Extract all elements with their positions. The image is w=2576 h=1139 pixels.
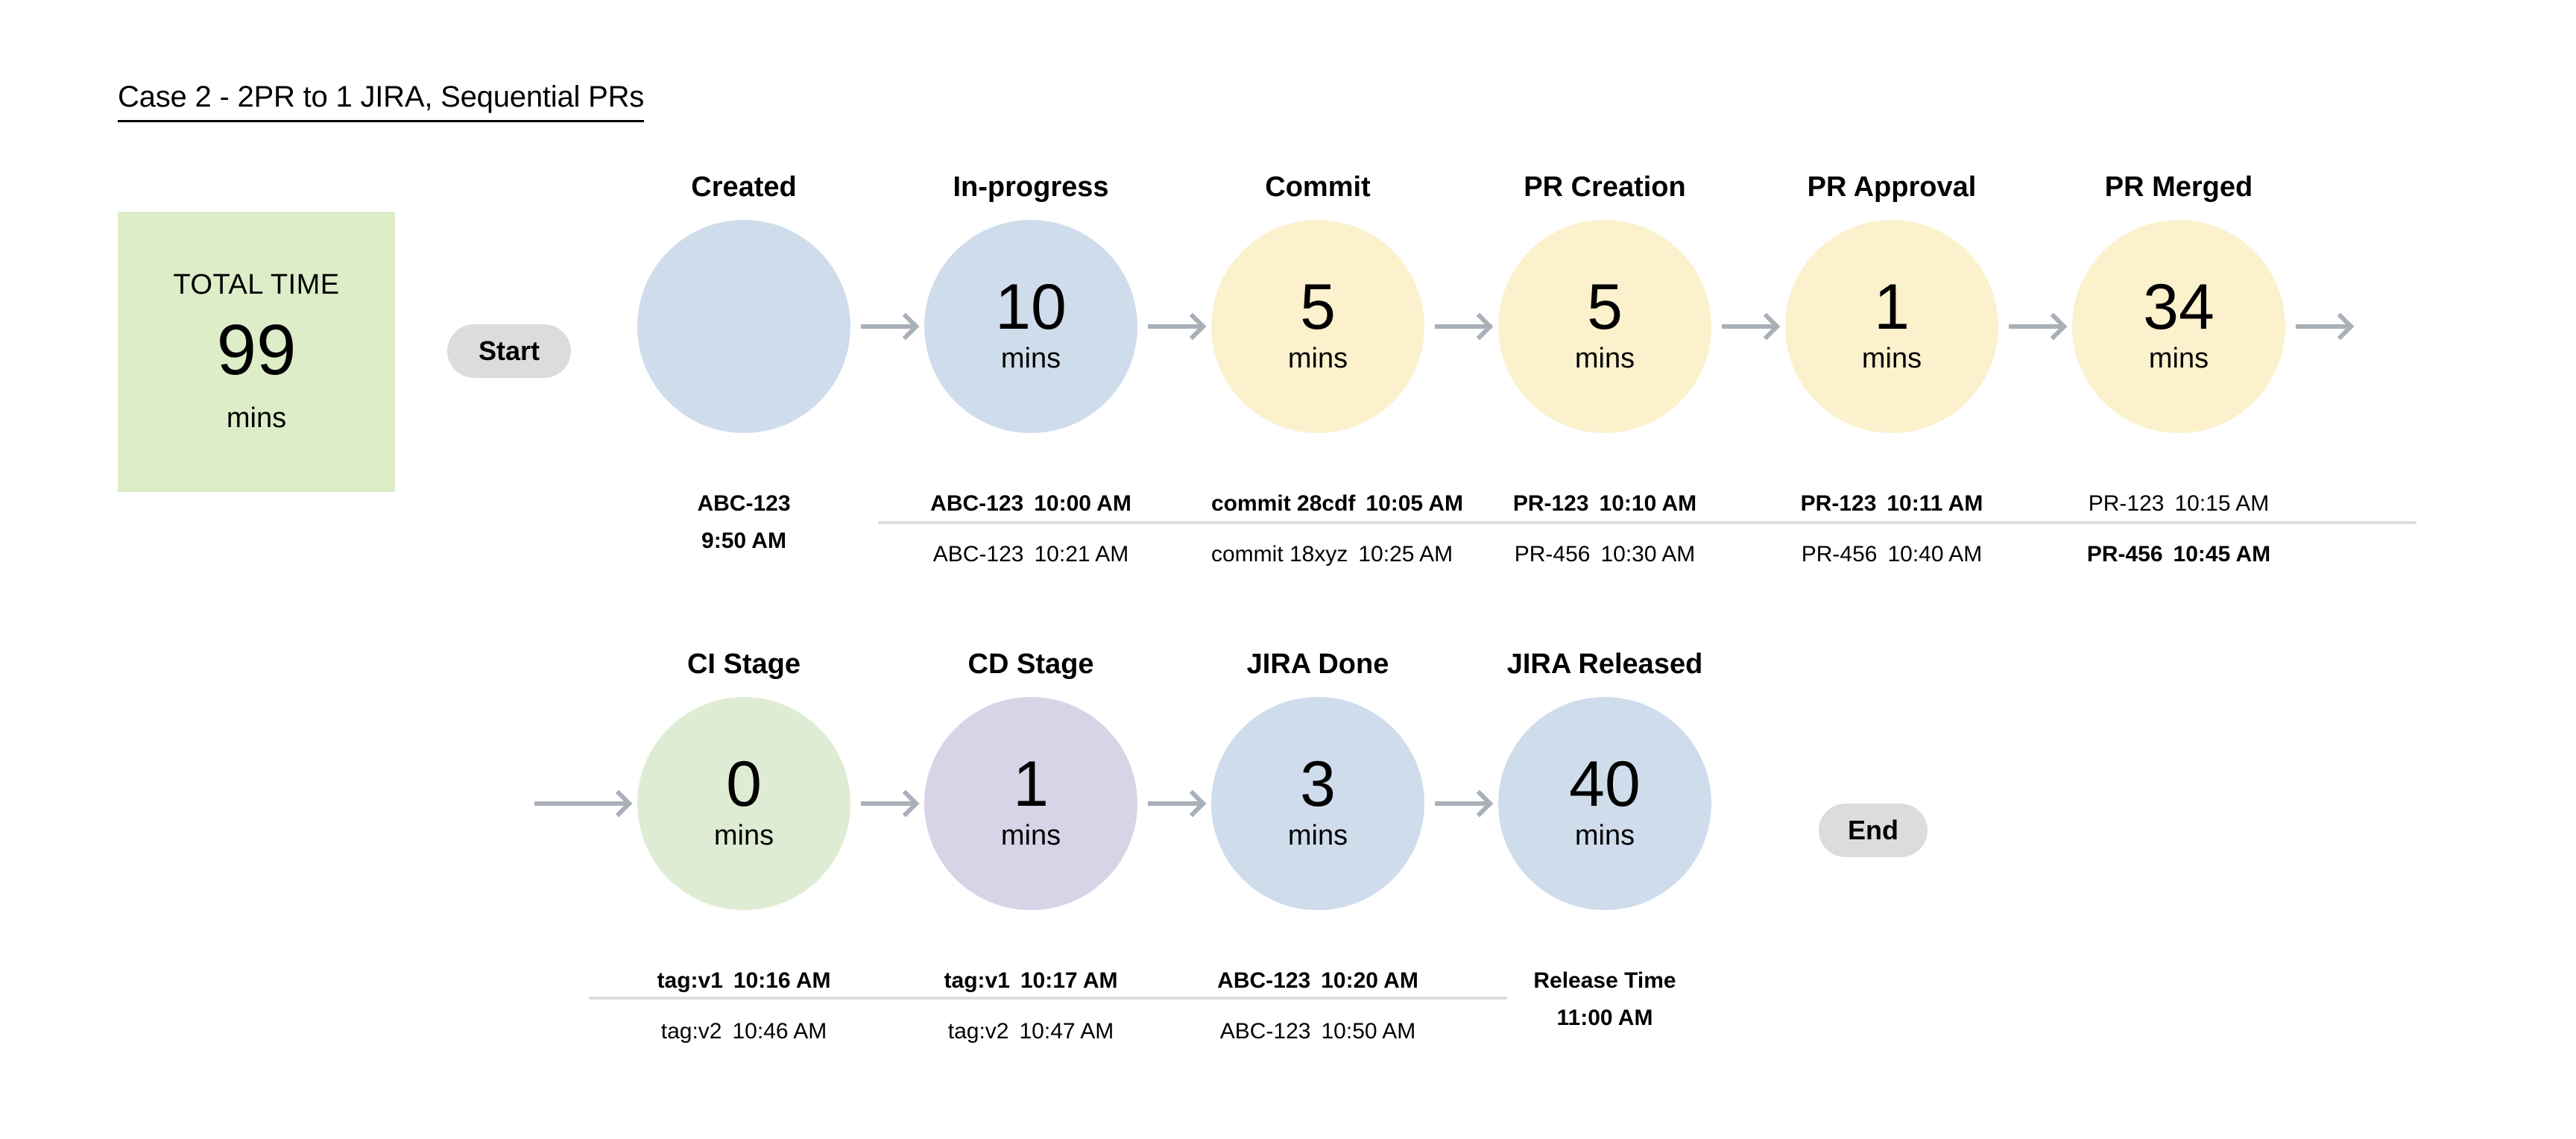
- flow-node-labels: commit 28cdf10:05 AMcommit 18xyz10:25 AM: [1211, 492, 1424, 566]
- flow-node-labels: ABC-12310:00 AMABC-12310:21 AM: [924, 492, 1137, 566]
- total-time-label: TOTAL TIME: [173, 269, 339, 301]
- flow-node-label-row: Release Time: [1498, 969, 1711, 993]
- flow-node-labels: tag:v110:17 AMtag:v210:47 AM: [924, 969, 1137, 1043]
- flow-node-title: PR Approval: [1785, 171, 1998, 203]
- flow-node-label-row: Release Time11:00 AM: [1498, 969, 1711, 1043]
- flow-node-label-time: 10:11 AM: [1887, 491, 1983, 516]
- flow-node-label-row: 9:50 AM: [637, 516, 850, 553]
- total-time-card: TOTAL TIME 99 mins: [118, 212, 395, 492]
- flow-node-label-id: PR-123: [1513, 491, 1589, 516]
- flow-node-duration-value: 34: [2143, 278, 2214, 337]
- flow-node-duration-unit: mins: [1575, 343, 1635, 375]
- flow-node-labels: ABC-1239:50 AM: [637, 492, 850, 566]
- flow-node-label-id: PR-456: [1515, 542, 1591, 567]
- flow-node-title: Commit: [1211, 171, 1424, 203]
- flow-node-label-row: commit 18xyz10:25 AM: [1211, 529, 1424, 567]
- flow-node-label-time: 10:45 AM: [2173, 542, 2271, 567]
- flow-node-label-row: ABC-12310:50 AM: [1211, 1006, 1424, 1044]
- flow-node-title: In-progress: [924, 171, 1137, 203]
- flow-node-label-row: ABC-1239:50 AM: [637, 492, 850, 566]
- flow-connector-arrow-entry: [534, 801, 627, 806]
- flow-node-label-time: 10:21 AM: [1034, 542, 1128, 567]
- flow-node-title: Created: [637, 171, 850, 203]
- flow-node-label-time: 10:05 AM: [1366, 491, 1463, 516]
- flow-node-label-id: PR-123: [2089, 491, 2165, 516]
- flow-node-label-time: 10:17 AM: [1020, 968, 1118, 993]
- flow-node-duration-value: 5: [1300, 278, 1336, 337]
- flow-node-label-id: tag:v2: [661, 1019, 722, 1044]
- flow-node-label-id: tag:v1: [944, 968, 1010, 993]
- flow-node-labels: PR-12310:15 AMPR-45610:45 AM: [2072, 492, 2285, 566]
- flow-node-duration-unit: mins: [1862, 343, 1922, 375]
- flow-connector-arrow: [1722, 324, 1775, 329]
- flow-node-label-time: 10:25 AM: [1358, 542, 1453, 567]
- flow-node-circle[interactable]: 34mins: [2072, 220, 2285, 433]
- flow-node-label-row: PR-45610:40 AM: [1785, 529, 1998, 567]
- flow-node-label-row: PR-45610:30 AM: [1498, 529, 1711, 567]
- flow-node-title: JIRA Released: [1498, 649, 1711, 681]
- flow-node-label-id: ABC-123: [930, 491, 1023, 516]
- flow-connector-arrow: [861, 324, 914, 329]
- flow-node-label-id: ABC-123: [933, 542, 1024, 567]
- flow-connector-arrow: [1148, 801, 1201, 806]
- label-divider-row-1: [878, 521, 2416, 524]
- total-time-value: 99: [217, 315, 297, 386]
- flow-node-label-row: ABC-123: [637, 492, 850, 516]
- flow-node-label-time: 11:00 AM: [1557, 1006, 1653, 1030]
- flow-connector-arrow: [1435, 801, 1488, 806]
- flow-node-label-id: PR-456: [2087, 542, 2163, 567]
- flow-node-duration-unit: mins: [2149, 343, 2209, 375]
- flow-node-duration-unit: mins: [1288, 820, 1348, 852]
- flow-node-title: PR Merged: [2072, 171, 2285, 203]
- flow-node-label-time: 10:46 AM: [732, 1019, 827, 1044]
- flow-node-label-id: commit 28cdf: [1211, 491, 1355, 516]
- flow-node-label-id: PR-456: [1802, 542, 1878, 567]
- flow-connector-arrow: [2009, 324, 2062, 329]
- flow-node-labels: PR-12310:11 AMPR-45610:40 AM: [1785, 492, 1998, 566]
- flow-node-label-row: tag:v210:46 AM: [637, 1006, 850, 1044]
- flow-connector-arrow: [1148, 324, 1201, 329]
- flow-node-title: PR Creation: [1498, 171, 1711, 203]
- flow-node-label-row: tag:v110:16 AM: [637, 969, 850, 1006]
- flow-node-label-id: tag:v2: [948, 1019, 1009, 1044]
- flow-node-label-row: tag:v210:47 AM: [924, 1006, 1137, 1044]
- flow-node-duration-value: 3: [1300, 755, 1336, 814]
- flow-connector-arrow: [1435, 324, 1488, 329]
- flow-node-label-time: 10:50 AM: [1321, 1019, 1415, 1044]
- flow-node-label-row: 11:00 AM: [1498, 993, 1711, 1030]
- flow-node-duration-value: 5: [1587, 278, 1623, 337]
- flow-node-circle[interactable]: [637, 220, 850, 433]
- flow-node-label-id: PR-123: [1801, 491, 1877, 516]
- flow-node-circle[interactable]: 1mins: [924, 697, 1137, 910]
- flow-node-duration-value: 40: [1569, 755, 1641, 814]
- flow-node-circle[interactable]: 3mins: [1211, 697, 1424, 910]
- flow-node-label-time: 10:00 AM: [1034, 491, 1131, 516]
- flow-node-label-time: 10:47 AM: [1019, 1019, 1114, 1044]
- flow-node-duration-value: 0: [726, 755, 762, 814]
- flow-node-title: JIRA Done: [1211, 649, 1424, 681]
- flow-node-circle[interactable]: 1mins: [1785, 220, 1998, 433]
- end-node[interactable]: End: [1819, 804, 1928, 857]
- flow-node-label-id: tag:v1: [657, 968, 723, 993]
- flow-node-duration-unit: mins: [1001, 820, 1061, 852]
- flow-node-label-row: ABC-12310:21 AM: [924, 529, 1137, 567]
- flow-node-circle[interactable]: 0mins: [637, 697, 850, 910]
- flow-node-labels: tag:v110:16 AMtag:v210:46 AM: [637, 969, 850, 1043]
- flow-node-label-id: commit 18xyz: [1211, 542, 1348, 567]
- flow-node-title: CD Stage: [924, 649, 1137, 681]
- flow-node-labels: PR-12310:10 AMPR-45610:30 AM: [1498, 492, 1711, 566]
- flow-node-circle[interactable]: 40mins: [1498, 697, 1711, 910]
- flow-node-labels: Release Time11:00 AM: [1498, 969, 1711, 1043]
- flow-node-label-time: 10:30 AM: [1600, 542, 1695, 567]
- flow-node-duration-unit: mins: [1288, 343, 1348, 375]
- flow-node-label-id: ABC-123: [1220, 1019, 1311, 1044]
- flow-node-circle[interactable]: 10mins: [924, 220, 1137, 433]
- flow-node-label-time: 10:20 AM: [1321, 968, 1418, 993]
- flow-node-duration-value: 1: [1874, 278, 1910, 337]
- flow-connector-arrow: [2296, 324, 2349, 329]
- flow-node-label-id: ABC-123: [1217, 968, 1310, 993]
- label-divider-row-2: [589, 997, 1507, 1000]
- flow-connector-arrow: [861, 801, 914, 806]
- total-time-unit: mins: [227, 403, 286, 435]
- flow-node-label-id: Release Time: [1533, 968, 1676, 993]
- flow-node-label-row: tag:v110:17 AM: [924, 969, 1137, 1006]
- flow-node-label-time: 10:16 AM: [733, 968, 831, 993]
- flow-node-label-id: ABC-123: [697, 491, 790, 516]
- flow-node-label-row: ABC-12310:20 AM: [1211, 969, 1424, 1006]
- flow-node-label-row: PR-45610:45 AM: [2072, 529, 2285, 567]
- flow-node-circle[interactable]: 5mins: [1498, 220, 1711, 433]
- flow-node-label-time: 10:40 AM: [1887, 542, 1982, 567]
- flow-node-circle[interactable]: 5mins: [1211, 220, 1424, 433]
- flow-node-label-time: 9:50 AM: [701, 529, 786, 553]
- start-node[interactable]: Start: [447, 324, 571, 378]
- flow-node-title: CI Stage: [637, 649, 850, 681]
- flow-node-label-time: 10:10 AM: [1600, 491, 1697, 516]
- flow-node-duration-unit: mins: [1575, 820, 1635, 852]
- flow-node-label-time: 10:15 AM: [2174, 491, 2269, 516]
- flow-node-duration-value: 10: [995, 278, 1067, 337]
- flow-node-duration-unit: mins: [714, 820, 774, 852]
- flow-node-labels: ABC-12310:20 AMABC-12310:50 AM: [1211, 969, 1424, 1043]
- page-title: Case 2 - 2PR to 1 JIRA, Sequential PRs: [118, 81, 644, 122]
- flow-node-duration-value: 1: [1013, 755, 1049, 814]
- flow-node-duration-unit: mins: [1001, 343, 1061, 375]
